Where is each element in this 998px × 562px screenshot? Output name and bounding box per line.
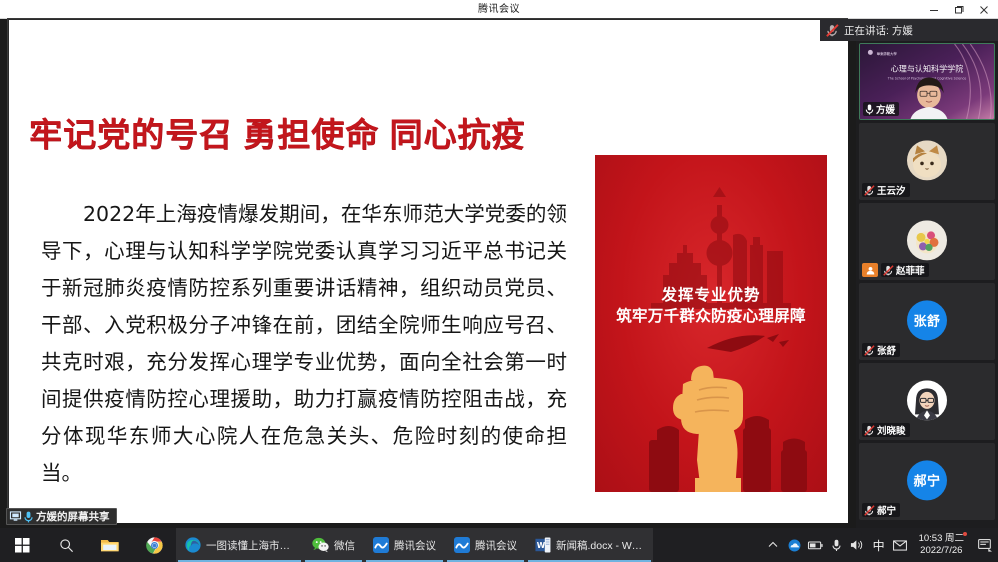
microphone-icon [832, 539, 841, 552]
participant-rail: 華東師範大學 心理与认知科学学院 The School of Psycholog… [856, 19, 998, 528]
taskbar-app-label: 微信 [334, 538, 355, 553]
slide-title: 牢记党的号召 勇担使命 同心抗疫 [29, 108, 589, 156]
muted-microphone-icon [864, 425, 875, 436]
participant-tile-fangyuan[interactable]: 華東師範大學 心理与认知科学学院 The School of Psycholog… [859, 43, 995, 120]
participant-tile-zhaofeifei[interactable]: 赵菲菲 [859, 203, 995, 280]
host-person-icon [866, 266, 875, 275]
tencent-meeting-window: 腾讯会议 牢记党的号召 勇担使命 同心抗疫 [0, 0, 998, 562]
tencent-meeting-icon [454, 537, 470, 553]
search-icon [59, 538, 74, 553]
presentation-slide: 牢记党的号召 勇担使命 同心抗疫 2022年上海疫情爆发期间，在华东师范大学党委… [9, 20, 848, 523]
cartoon-photo-avatar [907, 380, 947, 420]
wechat-icon [312, 537, 329, 553]
taskbar-app-wechat[interactable]: 微信 [303, 528, 364, 562]
mail-tray-icon[interactable] [890, 528, 911, 562]
screen-share-indicator: 方媛的屏幕共享 [6, 508, 117, 525]
chrome-button[interactable] [132, 528, 176, 562]
microphone-tray-icon[interactable] [826, 528, 847, 562]
file-explorer-icon [101, 537, 119, 553]
taskbar-app-label: 腾讯会议 [475, 538, 517, 553]
participant-tiles: 華東師範大學 心理与认知科学学院 The School of Psycholog… [856, 41, 998, 528]
muted-microphone-icon [864, 345, 875, 356]
battery-icon [808, 541, 823, 550]
volume-tray-icon[interactable] [847, 528, 868, 562]
svg-text:W: W [537, 541, 546, 550]
poster-image: 发挥专业优势 筑牢万千群众防疫心理屏障 [595, 155, 827, 492]
poster-slogan-line2: 筑牢万千群众防疫心理屏障 [595, 306, 827, 327]
taskbar-app-label: 新闻稿.docx - Wo... [556, 538, 644, 553]
taskbar-app-edge[interactable]: 一图读懂上海市第... [176, 528, 303, 562]
avatar-initials: 郝宁 [913, 470, 940, 489]
action-center-button[interactable] [972, 528, 998, 562]
taskbar-app-tencent-meeting-1[interactable]: 腾讯会议 [364, 528, 445, 562]
onedrive-tray-icon[interactable] [784, 528, 805, 562]
title-bar: 腾讯会议 [0, 0, 998, 19]
flower-photo-avatar [907, 220, 947, 260]
battery-tray-icon[interactable] [805, 528, 826, 562]
taskbar-app-label: 一图读懂上海市第... [206, 538, 294, 553]
participant-tile-liuxiaosuo[interactable]: 刘晓睃 [859, 363, 995, 440]
name-chip: 刘晓睃 [862, 423, 910, 437]
start-button[interactable] [0, 528, 44, 562]
svg-text:心理与认知科学学院: 心理与认知科学学院 [891, 64, 964, 74]
name-chip: 方媛 [863, 102, 899, 116]
search-button[interactable] [44, 528, 88, 562]
svg-text:華東師範大學: 華東師範大學 [877, 51, 898, 56]
poster-slogan-line1: 发挥专业优势 [595, 285, 827, 306]
monitor-icon [10, 511, 21, 522]
cat-photo-avatar [907, 140, 947, 180]
participant-name: 王云汐 [877, 183, 906, 197]
avatar [907, 220, 947, 260]
microphone-icon [865, 104, 874, 115]
speaker-icon [850, 539, 864, 551]
muted-microphone-icon [864, 505, 875, 516]
chevron-up-icon [768, 540, 778, 550]
participant-tile-wangyunxi[interactable]: 王云汐 [859, 123, 995, 200]
shared-screen-frame: 牢记党的号召 勇担使命 同心抗疫 2022年上海疫情爆发期间，在华东师范大学党委… [8, 19, 847, 522]
taskbar-app-tencent-meeting-2[interactable]: 腾讯会议 [445, 528, 526, 562]
name-chip: 赵菲菲 [881, 263, 929, 277]
muted-microphone-icon [864, 185, 875, 196]
avatar [907, 140, 947, 180]
action-center-icon [978, 539, 993, 552]
participant-tile-haoning[interactable]: 郝宁 郝宁 [859, 443, 995, 520]
muted-microphone-icon [826, 24, 839, 37]
avatar-initials: 张舒 [913, 310, 940, 329]
participant-name: 张舒 [877, 343, 896, 357]
poster-slogan: 发挥专业优势 筑牢万千群众防疫心理屏障 [595, 285, 827, 327]
microphone-icon [24, 511, 33, 523]
host-badge [862, 263, 878, 277]
slide-body-paragraph: 2022年上海疫情爆发期间，在华东师范大学党委的领导下，心理与认知科学学院党委认… [41, 196, 567, 492]
avatar: 张舒 [907, 300, 947, 340]
participant-name: 方媛 [876, 102, 895, 116]
windows-start-icon [15, 538, 30, 553]
system-tray: 中 10:53 周二 2022/7/26 [763, 528, 998, 562]
raised-fist-illustration [595, 332, 827, 492]
screen-share-label: 方媛的屏幕共享 [36, 509, 110, 524]
edge-icon [185, 537, 201, 553]
minimize-button[interactable] [921, 0, 946, 19]
avatar [907, 380, 947, 420]
file-explorer-button[interactable] [88, 528, 132, 562]
show-hidden-icons-chevron[interactable] [763, 528, 784, 562]
clock-time: 10:53 周二 [919, 533, 964, 545]
name-chip: 张舒 [862, 343, 900, 357]
participant-tile-zhangshu[interactable]: 张舒 张舒 [859, 283, 995, 360]
window-title: 腾讯会议 [0, 0, 998, 19]
notification-dot [963, 532, 967, 536]
name-chip: 王云汐 [862, 183, 910, 197]
muted-microphone-icon [883, 265, 894, 276]
active-speaker-banner: 正在讲话: 方媛 [820, 19, 998, 41]
windows-taskbar: 一图读懂上海市第... 微信 腾讯会议 [0, 528, 998, 562]
active-speaker-label: 正在讲话: 方媛 [844, 23, 913, 38]
window-controls [921, 0, 996, 19]
word-icon: W [535, 537, 551, 553]
tencent-meeting-icon [373, 537, 389, 553]
avatar: 郝宁 [907, 460, 947, 500]
ime-indicator[interactable]: 中 [868, 537, 890, 554]
taskbar-app-word[interactable]: W 新闻稿.docx - Wo... [526, 528, 653, 562]
chrome-icon [146, 537, 163, 554]
participant-name: 赵菲菲 [896, 263, 925, 277]
close-button[interactable] [971, 0, 996, 19]
shared-screen-region[interactable]: 牢记党的号召 勇担使命 同心抗疫 2022年上海疫情爆发期间，在华东师范大学党委… [0, 19, 856, 528]
clock[interactable]: 10:53 周二 2022/7/26 [911, 528, 972, 562]
clock-date: 2022/7/26 [920, 545, 962, 557]
participant-name: 郝宁 [877, 503, 896, 517]
taskbar-app-label: 腾讯会议 [394, 538, 436, 553]
participant-name: 刘晓睃 [877, 423, 906, 437]
cloud-sync-icon [788, 539, 801, 552]
mail-icon [893, 540, 907, 551]
name-chip: 郝宁 [862, 503, 900, 517]
restore-button[interactable] [946, 0, 971, 19]
